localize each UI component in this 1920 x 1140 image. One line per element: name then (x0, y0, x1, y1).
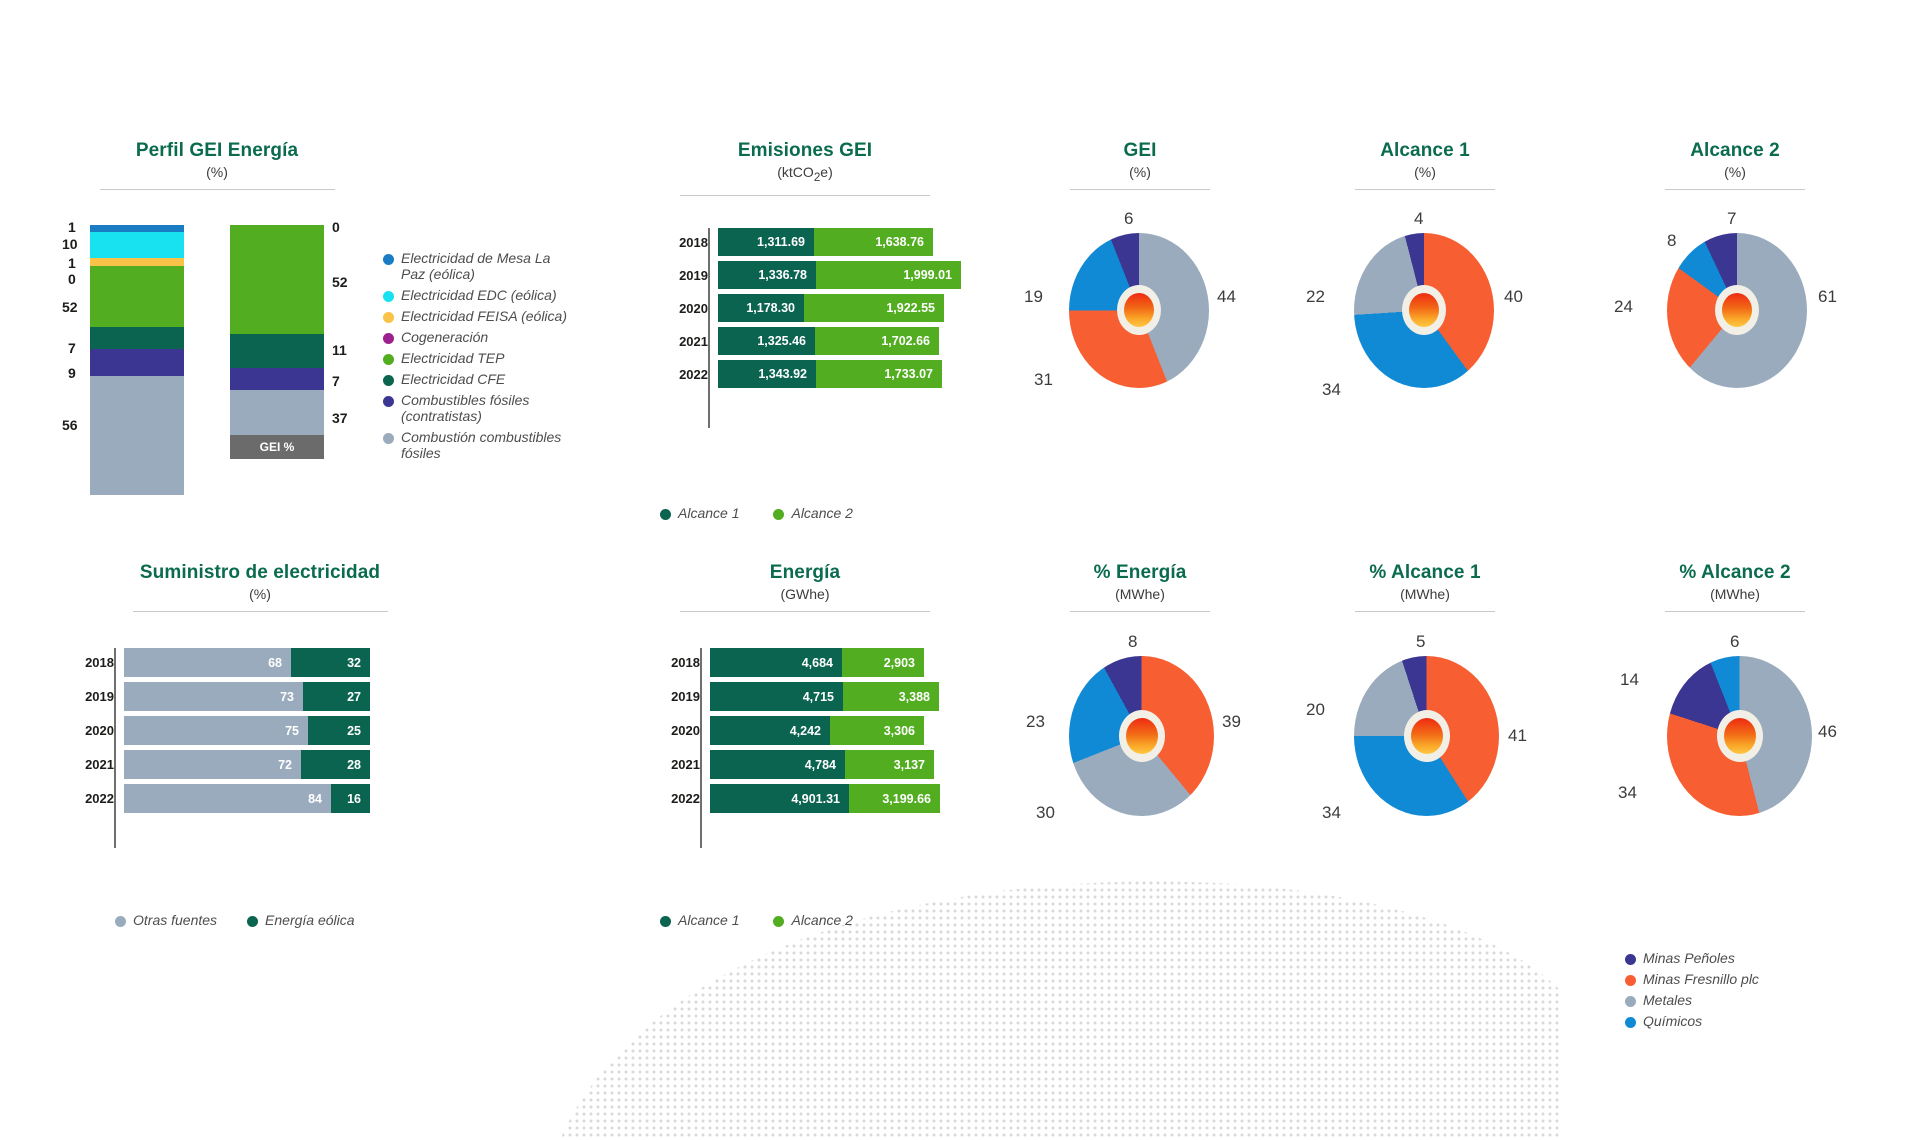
bar-segment-alcance2: 1,999.01 (816, 261, 961, 289)
emisiones-gei-bar-chart: 2018 1,311.69 1,638.76 2019 1,336.78 1,9… (660, 228, 980, 428)
panel-subtitle: (%) (1310, 163, 1540, 181)
legend-swatch-icon (383, 254, 394, 265)
bar-track: 72 28 (124, 750, 370, 779)
y-axis (114, 648, 116, 848)
legend-item[interactable]: Electricidad CFE (383, 371, 568, 387)
bar-track: 68 32 (124, 648, 370, 677)
panel-alcance-2: Alcance 2 (%) (1620, 140, 1850, 190)
legend-label: Metales (1643, 992, 1692, 1008)
title-rule (1665, 189, 1805, 190)
title-rule (133, 611, 388, 612)
bar-segment-alcance1: 4,901.31 (710, 784, 849, 813)
bar-segment-alcance2: 1,733.07 (816, 360, 942, 388)
column-group-gei: GEI % 0 52 11 7 37 (230, 225, 324, 459)
bar-segment-alcance1: 4,242 (710, 716, 830, 745)
value-label-gei-0: 0 (332, 219, 340, 235)
suministro-bar-chart: 2018 68 32 2019 73 27 2020 (62, 648, 402, 848)
segment-mesa-la-paz (90, 225, 184, 232)
panel-emisiones-gei: Emisiones GEI (ktCO2e) (660, 140, 950, 196)
bar-value-label: 25 (347, 724, 361, 738)
legend-alcance-energia: Alcance 1 Alcance 2 (660, 912, 853, 928)
bar-value-label: 1,999.01 (903, 268, 952, 282)
bar-value-label: 4,901.31 (791, 792, 840, 806)
segment-cfe (90, 327, 184, 349)
legend-label: Alcance 1 (678, 912, 739, 928)
table-row: 2019 73 27 (62, 682, 402, 711)
bar-track: 73 27 (124, 682, 370, 711)
y-axis (708, 228, 710, 428)
bar-segment-alcance1: 4,684 (710, 648, 842, 677)
legend-swatch-icon (1625, 954, 1636, 965)
bar-value-label: 1,336.78 (758, 268, 807, 282)
panel-title: Alcance 2 (1620, 140, 1850, 162)
bar-segment-alcance1: 1,343.92 (718, 360, 816, 388)
legend-swatch-icon (115, 916, 126, 927)
bar-track: 75 25 (124, 716, 370, 745)
value-label-gei-4: 37 (332, 410, 348, 426)
segment-tep (230, 225, 324, 334)
legend-swatch-icon (383, 375, 394, 386)
legend-swatch-icon (383, 433, 394, 444)
table-row: 2022 4,901.31 3,199.66 (648, 784, 978, 813)
bar-value-label: 72 (278, 758, 292, 772)
slice-label-metales: 22 (1306, 287, 1325, 307)
panel-subtitle: (MWhe) (1030, 585, 1250, 603)
table-row: 2020 4,242 3,306 (648, 716, 978, 745)
slice-label-metales: 61 (1818, 287, 1837, 307)
value-label-energia-0: 1 (68, 219, 76, 235)
slice-label-metales: 46 (1818, 722, 1837, 742)
bar-value-label: 3,388 (899, 690, 930, 704)
bar-segment-alcance2: 1,922.55 (804, 294, 944, 322)
bar-value-label: 68 (268, 656, 282, 670)
legend-swatch-icon (247, 916, 258, 927)
slice-label-fresnillo: 31 (1034, 370, 1053, 390)
title-rule (100, 189, 335, 190)
slice-label-penoles: 4 (1414, 209, 1423, 229)
bar-value-label: 32 (347, 656, 361, 670)
slice-label-metales: 20 (1306, 700, 1325, 720)
bar-value-label: 16 (347, 792, 361, 806)
legend-item[interactable]: Electricidad EDC (eólica) (383, 287, 568, 303)
bar-segment-eolica: 28 (301, 750, 370, 779)
panel-subtitle: (MWhe) (1620, 585, 1850, 603)
bar-segment-eolica: 25 (308, 716, 370, 745)
title-rule (1665, 611, 1805, 612)
legend-swatch-icon (383, 333, 394, 344)
slice-label-penoles: 5 (1416, 632, 1425, 652)
segment-contratistas (230, 368, 324, 390)
donut-core-icon (1724, 718, 1756, 754)
legend-suministro: Otras fuentes Energía eólica (115, 912, 355, 928)
bar-value-label: 4,242 (790, 724, 821, 738)
bar-value-label: 1,702.66 (881, 334, 930, 348)
title-rule (1070, 189, 1210, 190)
bar-track: 4,242 3,306 (710, 716, 924, 745)
legend-item[interactable]: Combustión combustibles fósiles (383, 429, 568, 461)
segment-cfe (230, 334, 324, 368)
legend-item[interactable]: Electricidad FEISA (eólica) (383, 308, 568, 324)
bar-value-label: 3,306 (884, 724, 915, 738)
bar-segment-otras-fuentes: 73 (124, 682, 303, 711)
legend-swatch-icon (383, 396, 394, 407)
donut-pct-alcance-1: 5 41 20 34 (1312, 648, 1537, 848)
bar-track: 1,325.46 1,702.66 (718, 327, 939, 355)
panel-title: Perfil GEI Energía (82, 140, 352, 162)
title-rule (680, 611, 930, 612)
bar-segment-alcance2: 3,388 (843, 682, 939, 711)
panel-title: % Alcance 2 (1620, 562, 1850, 584)
segment-contratistas (90, 349, 184, 376)
title-rule (1355, 611, 1495, 612)
bar-segment-alcance2: 1,702.66 (815, 327, 939, 355)
value-label-gei-3: 7 (332, 373, 340, 389)
bar-track: 4,784 3,137 (710, 750, 934, 779)
bar-segment-alcance2: 2,903 (842, 648, 924, 677)
value-label-energia-6: 9 (68, 365, 76, 381)
bar-value-label: 4,784 (805, 758, 836, 772)
bar-segment-otras-fuentes: 72 (124, 750, 301, 779)
legend-empresas: Minas Peñoles Minas Fresnillo plc Metale… (1625, 950, 1845, 1034)
legend-label: Otras fuentes (133, 912, 217, 928)
panel-subtitle: (GWhe) (660, 585, 950, 603)
bar-value-label: 1,733.07 (884, 367, 933, 381)
legend-label: Electricidad FEISA (eólica) (401, 308, 567, 324)
table-row: 2021 72 28 (62, 750, 402, 779)
slice-label-penoles: 8 (1128, 632, 1137, 652)
legend-label: Minas Fresnillo plc (1643, 971, 1759, 987)
panel-suministro-electricidad: Suministro de electricidad (%) (80, 562, 440, 612)
bar-track: 4,684 2,903 (710, 648, 924, 677)
y-axis (700, 648, 702, 848)
legend-item[interactable]: Alcance 1 (660, 912, 739, 928)
slice-label-fresnillo: 41 (1508, 726, 1527, 746)
segment-feisa (90, 258, 184, 266)
title-rule (1355, 189, 1495, 190)
bar-value-label: 75 (285, 724, 299, 738)
slice-label-fresnillo: 34 (1618, 783, 1637, 803)
table-row: 2022 84 16 (62, 784, 402, 813)
legend-item[interactable]: Alcance 2 (773, 505, 852, 521)
bar-segment-alcance2: 1,638.76 (814, 228, 933, 256)
value-label-energia-1: 10 (62, 236, 78, 252)
panel-pct-energia: % Energía (MWhe) (1030, 562, 1250, 612)
panel-subtitle: (ktCO2e) (660, 163, 950, 187)
value-label-energia-2: 1 (68, 255, 76, 271)
donut-core-icon (1409, 293, 1439, 327)
table-row: 2020 75 25 (62, 716, 402, 745)
legend-alcance-emisiones: Alcance 1 Alcance 2 (660, 505, 853, 521)
panel-title: Suministro de electricidad (80, 562, 440, 584)
legend-item[interactable]: Otras fuentes (115, 912, 217, 928)
value-label-gei-2: 11 (332, 342, 347, 358)
legend-item[interactable]: Energía eólica (247, 912, 355, 928)
infographic-canvas: Perfil GEI Energía (%) Energía % 1 10 1 … (0, 0, 1920, 1080)
bar-segment-alcance1: 1,311.69 (718, 228, 814, 256)
slice-label-penoles: 7 (1727, 209, 1736, 229)
legend-label: Combustión combustibles fósiles (401, 429, 568, 461)
slice-label-quimicos: 6 (1730, 632, 1739, 652)
table-row: 2021 4,784 3,137 (648, 750, 978, 779)
legend-item[interactable]: Electricidad TEP (383, 350, 568, 366)
slice-label-quimicos: 19 (1024, 287, 1043, 307)
column-group-energia: Energía % 1 10 1 0 52 7 9 56 (90, 225, 184, 459)
legend-perfil: Electricidad de Mesa La Paz (eólica) Ele… (383, 250, 568, 466)
panel-subtitle: (MWhe) (1310, 585, 1540, 603)
legend-label: Químicos (1643, 1013, 1702, 1029)
legend-swatch-icon (383, 291, 394, 302)
slice-label-fresnillo: 24 (1614, 297, 1633, 317)
panel-title: % Energía (1030, 562, 1250, 584)
value-label-energia-5: 7 (68, 340, 76, 356)
bar-segment-eolica: 27 (303, 682, 370, 711)
bar-track: 1,178.30 1,922.55 (718, 294, 944, 322)
bar-segment-otras-fuentes: 75 (124, 716, 308, 745)
legend-label: Alcance 1 (678, 505, 739, 521)
segment-combustion (230, 390, 324, 435)
bar-track: 1,336.78 1,999.01 (718, 261, 961, 289)
slice-label-quimicos: 23 (1026, 712, 1045, 732)
bar-segment-alcance1: 4,784 (710, 750, 845, 779)
panel-perfil-gei-energia: Perfil GEI Energía (%) (82, 140, 352, 190)
bar-value-label: 28 (347, 758, 361, 772)
legend-swatch-icon (383, 312, 394, 323)
panel-pct-alcance-1: % Alcance 1 (MWhe) (1310, 562, 1540, 612)
bar-track: 1,311.69 1,638.76 (718, 228, 933, 256)
bar-track: 1,343.92 1,733.07 (718, 360, 942, 388)
bar-value-label: 1,638.76 (875, 235, 924, 249)
legend-label: Cogeneración (401, 329, 488, 345)
legend-swatch-icon (660, 509, 671, 520)
panel-title: Emisiones GEI (660, 140, 950, 162)
bar-value-label: 1,178.30 (746, 301, 795, 315)
legend-swatch-icon (383, 354, 394, 365)
legend-label: Alcance 2 (791, 912, 852, 928)
legend-item[interactable]: Minas Peñoles (1625, 950, 1845, 966)
column-gei (230, 225, 324, 435)
energia-bar-chart: 2018 4,684 2,903 2019 4,715 3,388 (648, 648, 978, 848)
bar-segment-eolica: 32 (291, 648, 370, 677)
legend-label: Electricidad CFE (401, 371, 505, 387)
column-energia (90, 225, 184, 435)
bar-value-label: 4,684 (802, 656, 833, 670)
donut-core-icon (1126, 718, 1158, 754)
panel-energia: Energía (GWhe) (660, 562, 950, 612)
legend-swatch-icon (773, 916, 784, 927)
bar-value-label: 2,903 (884, 656, 915, 670)
slice-label-penoles: 6 (1124, 209, 1133, 229)
legend-label: Electricidad TEP (401, 350, 504, 366)
bar-segment-alcance1: 1,325.46 (718, 327, 815, 355)
legend-item[interactable]: Minas Fresnillo plc (1625, 971, 1845, 987)
panel-subtitle: (%) (1620, 163, 1850, 181)
bar-value-label: 3,199.66 (882, 792, 931, 806)
title-rule (680, 195, 930, 196)
column-caption-gei: GEI % (230, 435, 324, 459)
stacked-column-chart: Energía % 1 10 1 0 52 7 9 56 GEI % 0 52 … (90, 225, 324, 459)
legend-label: Electricidad de Mesa La Paz (eólica) (401, 250, 568, 282)
bar-value-label: 1,343.92 (758, 367, 807, 381)
slice-label-quimicos: 34 (1322, 803, 1341, 823)
legend-label: Combustibles fósiles (contratistas) (401, 392, 568, 424)
donut-core-icon (1722, 293, 1752, 327)
slice-label-metales: 44 (1217, 287, 1236, 307)
bar-value-label: 27 (347, 690, 361, 704)
legend-label: Electricidad EDC (eólica) (401, 287, 557, 303)
legend-item[interactable]: Alcance 2 (773, 912, 852, 928)
bar-segment-eolica: 16 (331, 784, 370, 813)
panel-title: GEI (1030, 140, 1250, 162)
segment-edc (90, 232, 184, 258)
segment-tep (90, 266, 184, 327)
segment-combustion (90, 376, 184, 495)
panel-subtitle: (%) (82, 163, 352, 181)
table-row: 2018 68 32 (62, 648, 402, 677)
bar-segment-alcance2: 3,137 (845, 750, 934, 779)
legend-label: Energía eólica (265, 912, 355, 928)
bar-segment-alcance2: 3,199.66 (849, 784, 940, 813)
title-rule (1070, 611, 1210, 612)
legend-item[interactable]: Electricidad de Mesa La Paz (eólica) (383, 250, 568, 282)
table-row: 2018 4,684 2,903 (648, 648, 978, 677)
legend-item[interactable]: Metales (1625, 992, 1845, 1008)
panel-subtitle: (%) (80, 585, 440, 603)
bar-value-label: 3,137 (894, 758, 925, 772)
panel-title: Alcance 1 (1310, 140, 1540, 162)
bar-segment-alcance1: 4,715 (710, 682, 843, 711)
slice-label-quimicos: 34 (1322, 380, 1341, 400)
value-label-energia-3: 0 (68, 271, 76, 287)
panel-pct-alcance-2: % Alcance 2 (MWhe) (1620, 562, 1850, 612)
legend-item[interactable]: Alcance 1 (660, 505, 739, 521)
slice-label-penoles: 14 (1620, 670, 1639, 690)
bar-segment-alcance2: 3,306 (830, 716, 924, 745)
bar-segment-otras-fuentes: 68 (124, 648, 291, 677)
value-label-energia-4: 52 (62, 299, 78, 315)
slice-label-quimicos: 8 (1667, 231, 1676, 251)
legend-swatch-icon (773, 509, 784, 520)
donut-gei: 6 44 19 31 (1032, 225, 1247, 425)
bar-track: 84 16 (124, 784, 370, 813)
bar-track: 4,715 3,388 (710, 682, 939, 711)
donut-pct-energia: 8 39 23 30 (1032, 648, 1247, 848)
legend-label: Minas Peñoles (1643, 950, 1735, 966)
bar-segment-alcance1: 1,178.30 (718, 294, 804, 322)
legend-item[interactable]: Combustibles fósiles (contratistas) (383, 392, 568, 424)
value-label-energia-7: 56 (62, 417, 78, 433)
panel-title: % Alcance 1 (1310, 562, 1540, 584)
table-row: 2019 4,715 3,388 (648, 682, 978, 711)
panel-title: Energía (660, 562, 950, 584)
bar-value-label: 84 (308, 792, 322, 806)
legend-label: Alcance 2 (791, 505, 852, 521)
bar-value-label: 1,325.46 (757, 334, 806, 348)
slice-label-fresnillo: 40 (1504, 287, 1523, 307)
legend-item[interactable]: Cogeneración (383, 329, 568, 345)
bar-segment-alcance1: 1,336.78 (718, 261, 816, 289)
value-label-gei-1: 52 (332, 274, 348, 290)
donut-core-icon (1124, 293, 1154, 327)
legend-swatch-icon (1625, 996, 1636, 1007)
donut-core-icon (1411, 718, 1443, 754)
legend-item[interactable]: Químicos (1625, 1013, 1845, 1029)
panel-gei: GEI (%) (1030, 140, 1250, 190)
legend-swatch-icon (1625, 1017, 1636, 1028)
bar-track: 4,901.31 3,199.66 (710, 784, 940, 813)
slice-label-metales: 30 (1036, 803, 1055, 823)
bar-segment-otras-fuentes: 84 (124, 784, 331, 813)
donut-pct-alcance-2: 6 14 46 34 (1622, 648, 1852, 848)
legend-swatch-icon (660, 916, 671, 927)
bar-value-label: 1,311.69 (757, 235, 805, 249)
bar-value-label: 1,922.55 (886, 301, 935, 315)
legend-swatch-icon (1625, 975, 1636, 986)
bar-value-label: 4,715 (803, 690, 834, 704)
panel-alcance-1: Alcance 1 (%) (1310, 140, 1540, 190)
bar-value-label: 73 (280, 690, 294, 704)
donut-alcance-2: 7 8 61 24 (1622, 225, 1852, 425)
donut-alcance-1: 4 40 22 34 (1312, 225, 1537, 425)
slice-label-fresnillo: 39 (1222, 712, 1241, 732)
panel-subtitle: (%) (1030, 163, 1250, 181)
